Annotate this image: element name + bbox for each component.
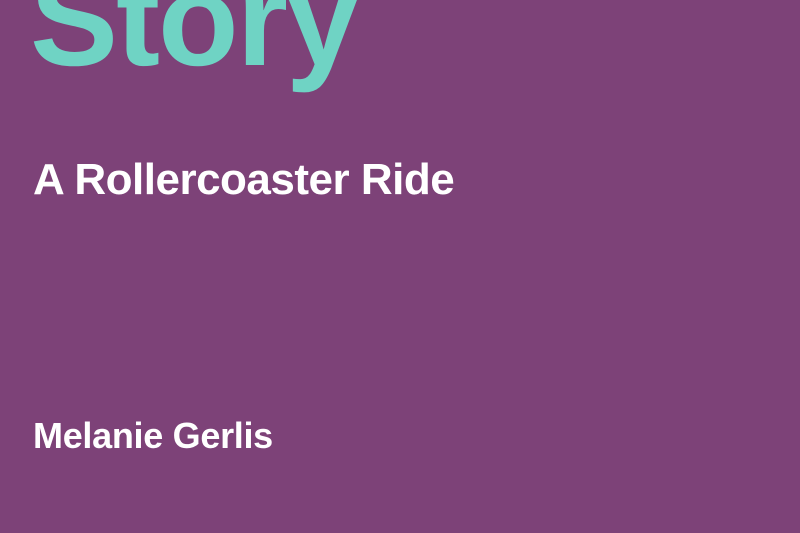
book-subtitle: A Rollercoaster Ride [33, 158, 454, 202]
book-cover: Story A Rollercoaster Ride Melanie Gerli… [0, 0, 800, 533]
book-author: Melanie Gerlis [33, 418, 273, 454]
book-title: Story [30, 0, 357, 86]
book-title-clip: Story [0, 0, 800, 110]
